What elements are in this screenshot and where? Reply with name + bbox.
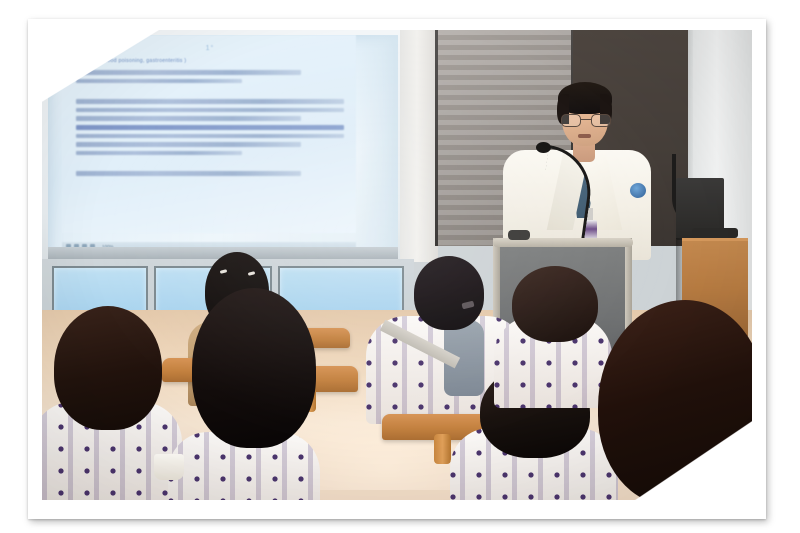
projected-text-line bbox=[76, 151, 242, 156]
eyeglass-lens-right bbox=[591, 114, 611, 127]
audience-member-head bbox=[54, 306, 162, 430]
monitor-base bbox=[692, 228, 738, 238]
projected-text-line bbox=[76, 134, 344, 139]
projected-text-line bbox=[76, 116, 301, 121]
lectern-pointer-device bbox=[508, 230, 530, 240]
projected-text-line bbox=[76, 125, 344, 130]
projected-document: 1° ( food poisoning, gastroenteritis ) bbox=[62, 35, 356, 233]
shoulder-emblem-icon bbox=[629, 182, 647, 199]
screen-right-shading bbox=[354, 35, 398, 259]
projected-text-line bbox=[76, 99, 344, 104]
projected-english-term: ( food poisoning, gastroenteritis ) bbox=[102, 58, 344, 64]
projected-text-line bbox=[76, 171, 301, 176]
audience-member-head bbox=[192, 288, 316, 448]
photograph: 1° ( food poisoning, gastroenteritis ) bbox=[42, 30, 752, 500]
photo-frame-card: 1° ( food poisoning, gastroenteritis ) bbox=[28, 19, 766, 519]
projected-text-line bbox=[76, 79, 242, 84]
projected-text-line bbox=[76, 108, 344, 113]
paper-cup bbox=[154, 454, 184, 480]
eyeglass-lens-left bbox=[561, 114, 581, 127]
audience-member-head bbox=[512, 266, 598, 342]
projected-page-number: 1° bbox=[76, 45, 344, 52]
chair-post bbox=[434, 434, 451, 464]
audience-member-head bbox=[414, 256, 484, 330]
microphone-icon bbox=[536, 142, 551, 153]
projected-text-line bbox=[76, 142, 301, 147]
projected-text-spacer bbox=[76, 87, 344, 95]
speaker-mouth bbox=[578, 134, 591, 138]
projected-text-line bbox=[76, 70, 301, 75]
projected-text-spacer bbox=[76, 159, 344, 167]
eyeglasses-icon bbox=[561, 114, 611, 127]
wall-pillar bbox=[400, 30, 438, 262]
eyeglass-bridge bbox=[581, 119, 591, 120]
projection-screen: 1° ( food poisoning, gastroenteritis ) bbox=[48, 35, 398, 259]
